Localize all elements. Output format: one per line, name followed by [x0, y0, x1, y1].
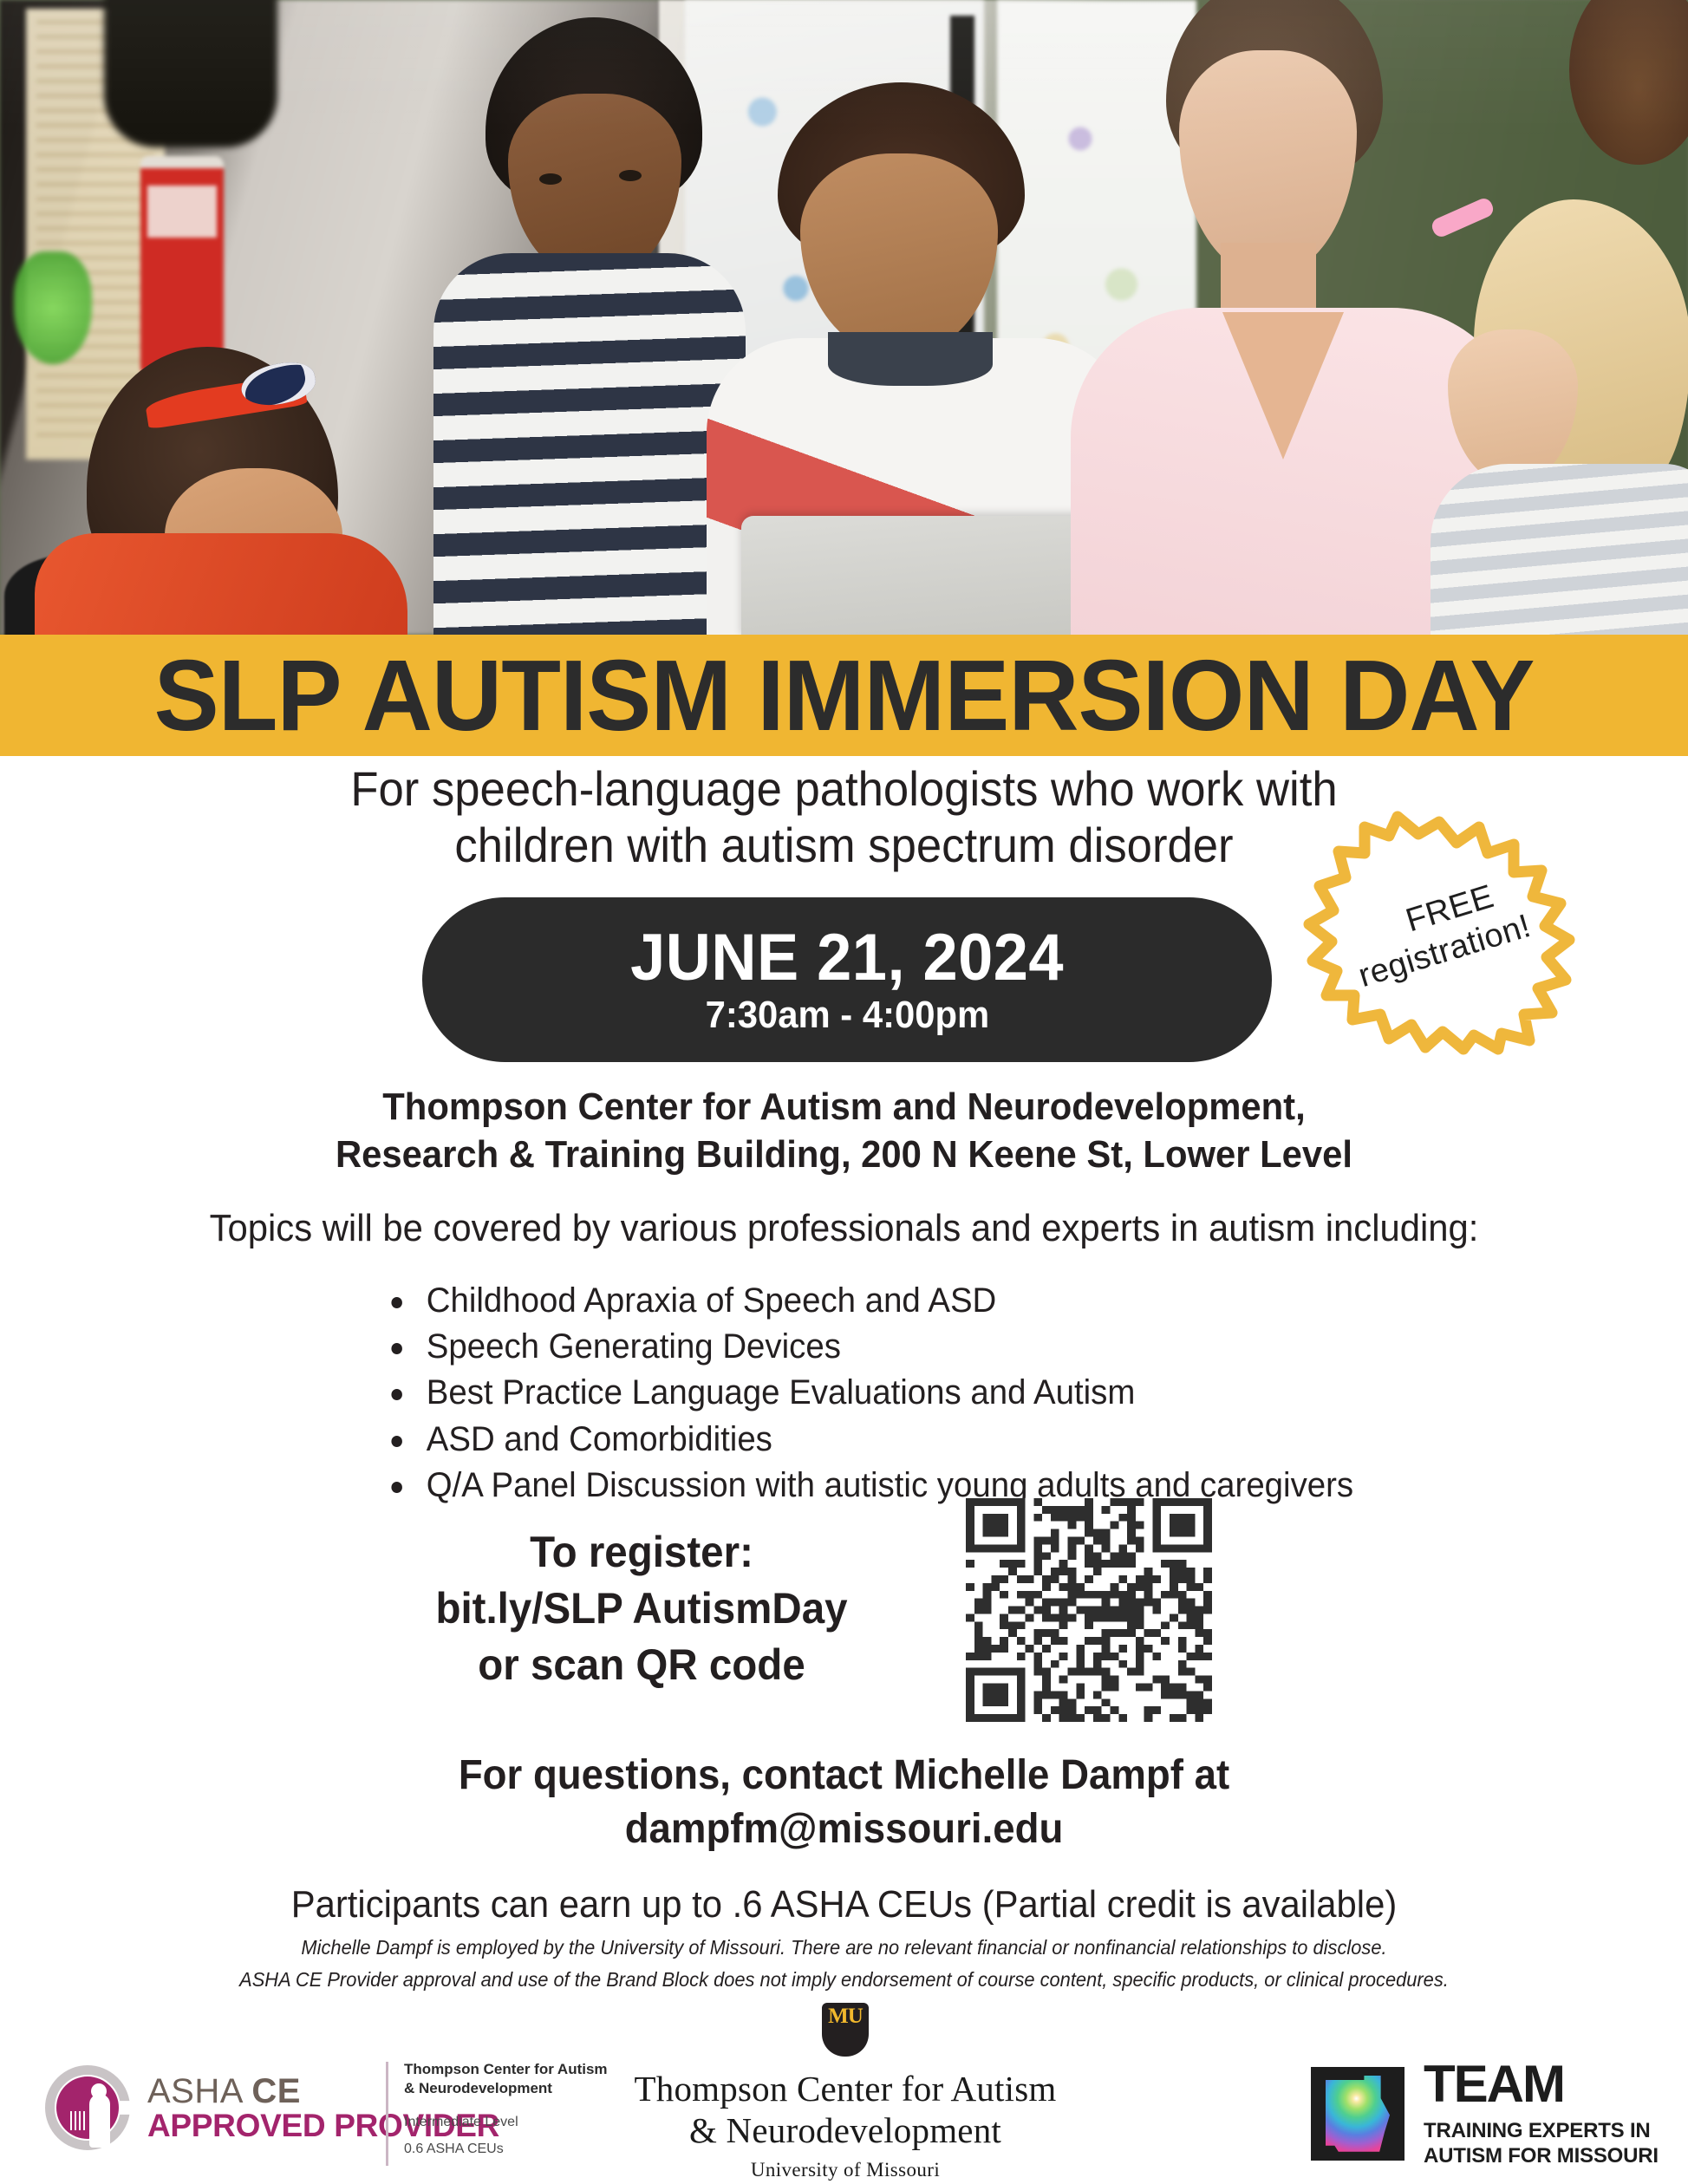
asha-meta-title: Thompson Center for Autism & Neurodevelo…: [404, 2060, 621, 2099]
register-label: To register:: [378, 1524, 905, 1581]
team-tagline-line-2: AUTISM FOR MISSOURI: [1424, 2143, 1659, 2168]
date-badge: JUNE 21, 2024 7:30am - 4:00pm: [422, 897, 1272, 1062]
asha-meta-ceus: 0.6 ASHA CEUs: [404, 2139, 621, 2160]
missouri-state-shape: [1326, 2076, 1390, 2152]
qr-code[interactable]: [966, 1498, 1212, 1722]
list-item: Childhood Apraxia of Speech and ASD: [380, 1278, 1378, 1324]
team-title: TEAM: [1424, 2058, 1659, 2110]
footer-logos: ASHA CE APPROVED PROVIDER Thompson Cente…: [0, 1994, 1688, 2184]
venue-line-1: Thompson Center for Autism and Neurodeve…: [42, 1083, 1646, 1131]
disclaimer-line-2: ASHA CE Provider approval and use of the…: [42, 1964, 1646, 1996]
register-scan-hint: or scan QR code: [378, 1637, 905, 1693]
contact-email[interactable]: dampfm@missouri.edu: [42, 1803, 1646, 1856]
subtitle-line-1: For speech-language pathologists who wor…: [50, 761, 1637, 818]
flyer-page: SLP AUTISM IMMERSION DAY For speech-lang…: [0, 0, 1688, 2184]
team-tagline: TRAINING EXPERTS IN AUTISM FOR MISSOURI: [1424, 2118, 1659, 2169]
asha-course-meta: Thompson Center for Autism & Neurodevelo…: [404, 2060, 621, 2160]
venue-address: Thompson Center for Autism and Neurodeve…: [42, 1083, 1646, 1178]
disclaimer: Michelle Dampf is employed by the Univer…: [42, 1932, 1646, 1996]
mu-shield-icon: MU: [822, 2003, 869, 2057]
ceu-statement: Participants can earn up to .6 ASHA CEUs…: [42, 1883, 1646, 1926]
starburst-icon: [1309, 817, 1569, 1049]
ce-word: CE: [251, 2072, 301, 2110]
event-time: 7:30am - 4:00pm: [705, 996, 989, 1034]
disclaimer-line-1: Michelle Dampf is employed by the Univer…: [42, 1932, 1646, 1964]
asha-soundwave-left-icon: [70, 2111, 88, 2130]
team-wordmark: TEAM TRAINING EXPERTS IN AUTISM FOR MISS…: [1424, 2058, 1659, 2169]
contact-info: For questions, contact Michelle Dampf at…: [42, 1749, 1646, 1857]
list-item: Q/A Panel Discussion with autistic young…: [380, 1463, 1378, 1509]
asha-disc: [56, 2076, 119, 2139]
topics-intro: Topics will be covered by various profes…: [42, 1207, 1646, 1250]
register-url[interactable]: bit.ly/SLP AutismDay: [378, 1581, 905, 1637]
thompson-center-name: Thompson Center for Autism & Neurodevelo…: [629, 2069, 1062, 2151]
asha-word: ASHA: [147, 2072, 251, 2110]
hero-photo: [0, 0, 1688, 635]
event-date: JUNE 21, 2024: [630, 925, 1064, 991]
photo-overlay: [0, 0, 1688, 635]
asha-divider: [386, 2062, 388, 2166]
contact-line-1: For questions, contact Michelle Dampf at: [42, 1749, 1646, 1803]
venue-line-2: Research & Training Building, 200 N Keen…: [42, 1131, 1646, 1178]
team-logo: TEAM TRAINING EXPERTS IN AUTISM FOR MISS…: [1311, 2058, 1659, 2169]
register-instructions: To register: bit.ly/SLP AutismDay or sca…: [378, 1524, 905, 1693]
page-title: SLP AUTISM IMMERSION DAY: [154, 645, 1535, 746]
asha-seal-icon: [45, 2065, 130, 2150]
list-item: ASD and Comorbidities: [380, 1417, 1378, 1463]
university-name: University of Missouri: [629, 2159, 1062, 2181]
team-missouri-icon: [1311, 2067, 1404, 2161]
mu-shield-letters: MU: [822, 2006, 869, 2026]
list-item: Best Practice Language Evaluations and A…: [380, 1370, 1378, 1416]
asha-soundwave-right-icon: [89, 2111, 107, 2130]
thompson-center-logo: MU Thompson Center for Autism & Neurodev…: [629, 2003, 1062, 2181]
list-item: Speech Generating Devices: [380, 1324, 1378, 1370]
topics-list: Childhood Apraxia of Speech and ASD Spee…: [380, 1278, 1420, 1509]
free-registration-starburst: FREE registration!: [1309, 817, 1569, 1049]
team-tagline-line-1: TRAINING EXPERTS IN: [1424, 2118, 1659, 2143]
title-band: SLP AUTISM IMMERSION DAY: [0, 635, 1688, 756]
asha-meta-level: Intermediate Level: [404, 2112, 621, 2133]
